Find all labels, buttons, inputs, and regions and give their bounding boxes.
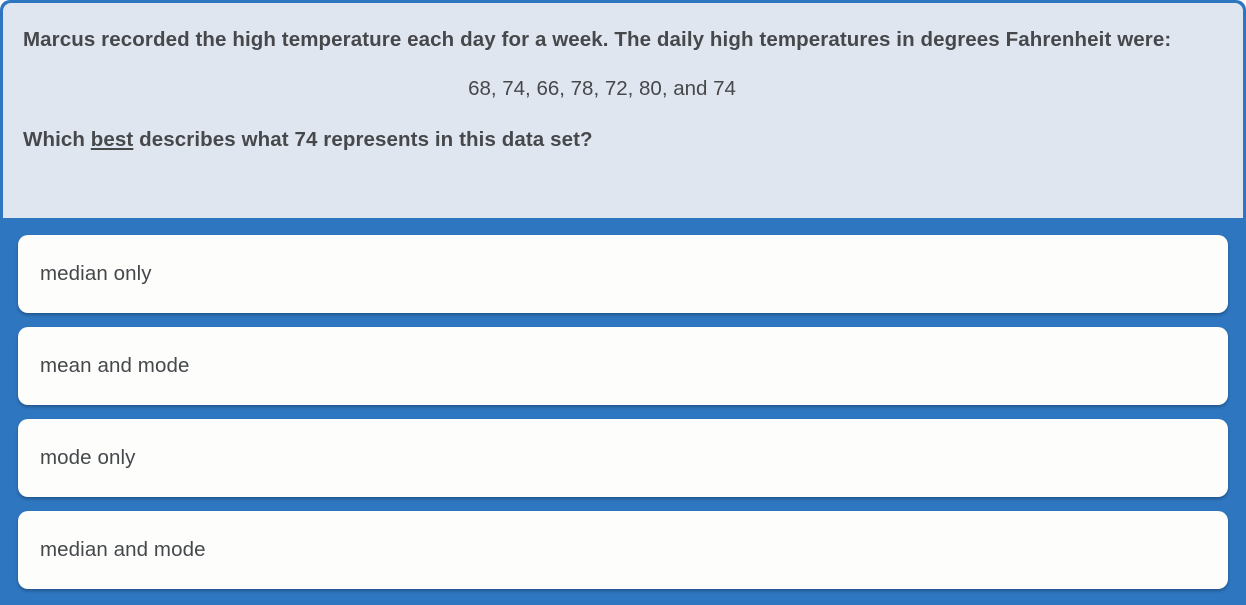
answer-option-4[interactable]: median and mode [18,511,1228,589]
answer-option-label: mode only [18,446,135,470]
question-panel: Marcus recorded the high temperature eac… [3,3,1243,218]
answer-option-label: median and mode [18,538,206,562]
answer-option-2[interactable]: mean and mode [18,327,1228,405]
question-prompt: Which best describes what 74 represents … [23,125,1211,154]
answer-options-list: median only mean and mode mode only medi… [0,218,1246,603]
quiz-frame: Marcus recorded the high temperature eac… [0,0,1246,605]
question-data-values: 68, 74, 66, 78, 72, 80, and 74 [23,75,1211,104]
answer-option-1[interactable]: median only [18,235,1228,313]
question-stem-intro: Marcus recorded the high temperature eac… [23,25,1215,54]
answer-option-3[interactable]: mode only [18,419,1228,497]
question-prompt-before: Which [23,128,91,151]
answer-option-label: mean and mode [18,354,189,378]
answer-option-label: median only [18,262,152,286]
question-prompt-emphasis: best [91,128,134,151]
question-prompt-after: describes what 74 represents in this dat… [133,128,592,151]
